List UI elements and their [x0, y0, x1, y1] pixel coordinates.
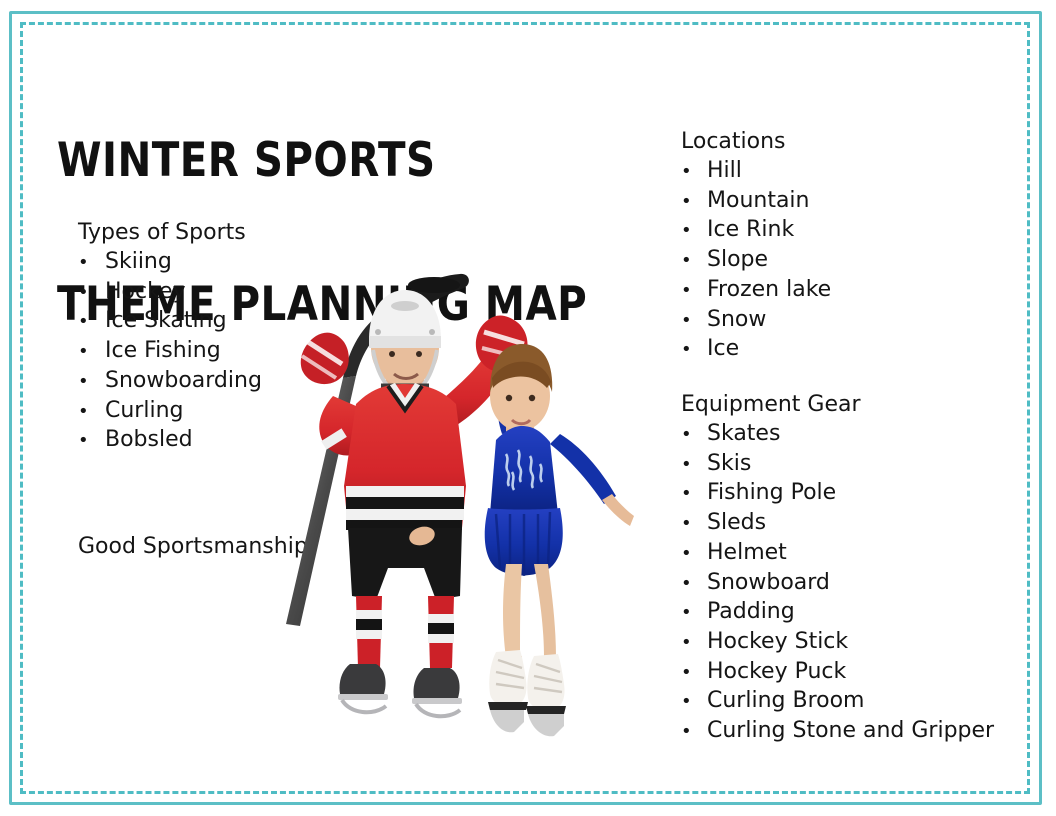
bullet-icon: •: [78, 398, 105, 427]
winter-sports-planning-map-poster: WINTER SPORTS THEME PLANNING MAP Types o…: [0, 0, 1056, 816]
list-item: •Snowboard: [681, 569, 994, 599]
bullet-icon: •: [681, 188, 707, 217]
list-item-label: Curling Stone and Gripper: [707, 717, 994, 746]
list-item-label: Helmet: [707, 539, 787, 568]
bullet-icon: •: [681, 688, 707, 717]
list-item: •Ice Rink: [681, 216, 831, 246]
list-item: •Hockey Puck: [681, 658, 994, 688]
list-item: •Fishing Pole: [681, 479, 994, 509]
list-item-label: Ice Skating: [105, 307, 227, 336]
list-item-label: Frozen lake: [707, 276, 831, 305]
list-item-label: Fishing Pole: [707, 479, 836, 508]
bullet-icon: •: [681, 158, 707, 187]
list-item-label: Bobsled: [105, 426, 193, 455]
list-item-label: Mountain: [707, 187, 810, 216]
list-item-label: Sleds: [707, 509, 766, 538]
bullet-icon: •: [681, 480, 707, 509]
bullet-icon: •: [681, 217, 707, 246]
list-item: •Frozen lake: [681, 276, 831, 306]
list-item-label: Snowboard: [707, 569, 830, 598]
list-item: •Snow: [681, 306, 831, 336]
list-item-label: Curling: [105, 397, 183, 426]
locations-heading: Locations: [681, 127, 831, 157]
list-item: •Hockey Stick: [681, 628, 994, 658]
list-item-label: Hockey Stick: [707, 628, 848, 657]
list-item: •Curling Broom: [681, 687, 994, 717]
list-item-label: Ice Fishing: [105, 337, 221, 366]
bullet-icon: •: [681, 510, 707, 539]
list-item-label: Snow: [707, 306, 766, 335]
equipment-gear-heading: Equipment Gear: [681, 390, 994, 420]
list-item: •Ice Skating: [78, 307, 262, 337]
figure-skater-figure: [485, 344, 634, 736]
types-of-sports-heading: Types of Sports: [78, 218, 262, 248]
list-item: •Snowboarding: [78, 367, 262, 397]
bullet-icon: •: [681, 336, 707, 365]
bullet-icon: •: [78, 427, 105, 456]
list-item: •Ice: [681, 335, 831, 365]
types-of-sports-block: Types of Sports •Skiing •Hockey •Ice Ska…: [78, 218, 262, 456]
list-item-label: Padding: [707, 598, 795, 627]
list-item: •Curling: [78, 397, 262, 427]
list-item-label: Ice: [707, 335, 739, 364]
figure-skate-icon: [488, 650, 566, 736]
hockey-socks: [356, 596, 454, 668]
athletes-illustration: [238, 228, 658, 748]
list-item: •Skiing: [78, 248, 262, 278]
list-item: •Padding: [681, 598, 994, 628]
list-item: •Ice Fishing: [78, 337, 262, 367]
list-item: •Hockey: [78, 278, 262, 308]
equipment-gear-list: •Skates •Skis •Fishing Pole •Sleds •Helm…: [681, 420, 994, 747]
bullet-icon: •: [681, 718, 707, 747]
hockey-player-and-figure-skater-photo: [238, 228, 658, 748]
types-of-sports-list: •Skiing •Hockey •Ice Skating •Ice Fishin…: [78, 248, 262, 456]
bullet-icon: •: [681, 277, 707, 306]
list-item-label: Skiing: [105, 248, 172, 277]
list-item-label: Hockey: [105, 278, 186, 307]
bullet-icon: •: [681, 570, 707, 599]
list-item: •Mountain: [681, 187, 831, 217]
list-item: •Skis: [681, 450, 994, 480]
locations-list: •Hill •Mountain •Ice Rink •Slope •Frozen…: [681, 157, 831, 365]
list-item: •Curling Stone and Gripper: [681, 717, 994, 747]
list-item-label: Skates: [707, 420, 780, 449]
list-item: •Skates: [681, 420, 994, 450]
page-title-line-1: WINTER SPORTS: [57, 137, 587, 185]
list-item: •Hill: [681, 157, 831, 187]
list-item: •Bobsled: [78, 426, 262, 456]
bullet-icon: •: [78, 368, 105, 397]
bullet-icon: •: [78, 308, 105, 337]
locations-block: Locations •Hill •Mountain •Ice Rink •Slo…: [681, 127, 831, 365]
list-item: •Sleds: [681, 509, 994, 539]
list-item-label: Slope: [707, 246, 768, 275]
bullet-icon: •: [78, 338, 105, 367]
bullet-icon: •: [681, 451, 707, 480]
list-item-label: Ice Rink: [707, 216, 794, 245]
bullet-icon: •: [681, 307, 707, 336]
list-item-label: Hockey Puck: [707, 658, 846, 687]
hockey-skate-icon: [338, 664, 462, 716]
bullet-icon: •: [681, 599, 707, 628]
bullet-icon: •: [681, 629, 707, 658]
bullet-icon: •: [681, 540, 707, 569]
bullet-icon: •: [681, 247, 707, 276]
list-item-label: Curling Broom: [707, 687, 864, 716]
list-item: •Helmet: [681, 539, 994, 569]
list-item-label: Hill: [707, 157, 742, 186]
equipment-gear-block: Equipment Gear •Skates •Skis •Fishing Po…: [681, 390, 994, 747]
list-item: •Slope: [681, 246, 831, 276]
bullet-icon: •: [681, 421, 707, 450]
bullet-icon: •: [681, 659, 707, 688]
hockey-glove-icon: [301, 333, 349, 384]
list-item-label: Skis: [707, 450, 751, 479]
bullet-icon: •: [78, 249, 105, 278]
bullet-icon: •: [78, 279, 105, 308]
